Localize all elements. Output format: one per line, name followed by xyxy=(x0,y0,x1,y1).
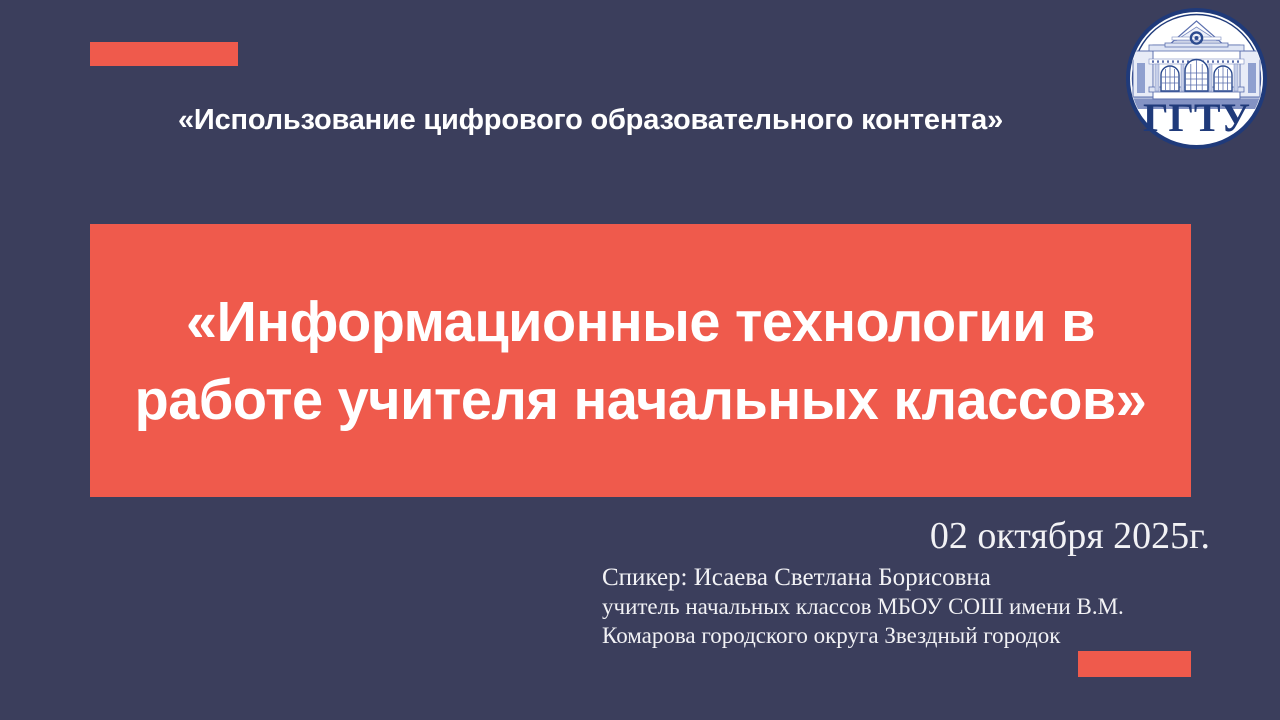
accent-bar-bottom-right xyxy=(1078,651,1191,677)
ggtu-logo-icon: ГГТУ xyxy=(1125,7,1268,150)
event-date: 02 октября 2025г. xyxy=(930,514,1210,558)
speaker-role-line-1: учитель начальных классов МБОУ СОШ имени… xyxy=(602,592,1202,621)
speaker-block: Спикер: Исаева Светлана Борисовна учител… xyxy=(602,563,1202,650)
university-logo: ГГТУ xyxy=(1125,7,1268,150)
speaker-name: Спикер: Исаева Светлана Борисовна xyxy=(602,563,1202,592)
logo-abbreviation: ГГТУ xyxy=(1143,95,1250,140)
event-title: «Использование цифрового образовательног… xyxy=(178,102,1108,138)
speaker-role-line-2: Комарова городского округа Звездный горо… xyxy=(602,621,1202,650)
presentation-slide: ГГТУ «Использование цифрового образовате… xyxy=(0,0,1280,720)
title-panel: «Информационные технологии в работе учит… xyxy=(90,224,1191,497)
page-title: «Информационные технологии в работе учит… xyxy=(101,283,1180,439)
accent-bar-top-left xyxy=(90,42,238,66)
